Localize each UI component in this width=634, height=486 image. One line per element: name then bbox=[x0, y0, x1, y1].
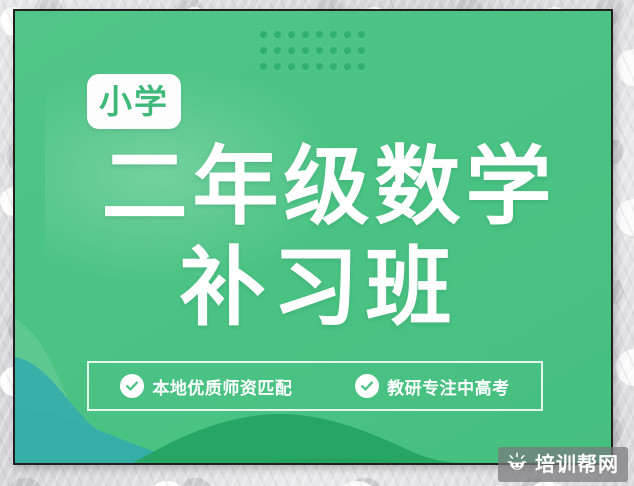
promo-poster-card: 小学 二年级数学 补习班 本地优质师资匹配 教研专注中高考 bbox=[13, 9, 613, 465]
feature-item-0: 本地优质师资匹配 bbox=[120, 374, 292, 399]
grid-dot bbox=[330, 63, 337, 70]
grid-dot bbox=[274, 47, 281, 54]
grid-dot bbox=[316, 47, 323, 54]
grid-dot bbox=[358, 63, 365, 70]
grid-dot bbox=[344, 31, 351, 38]
watermark-text: 培训帮网 bbox=[535, 455, 619, 475]
feature-item-1: 教研专注中高考 bbox=[355, 374, 510, 399]
grid-dot bbox=[260, 31, 267, 38]
grid-dot bbox=[344, 47, 351, 54]
poster-title-line1: 二年级数学 bbox=[15, 144, 613, 230]
site-watermark: 培训帮网 bbox=[498, 447, 628, 482]
poster-title-line2: 补习班 bbox=[15, 245, 613, 331]
feature-label: 教研专注中高考 bbox=[387, 374, 510, 399]
grid-dot bbox=[358, 31, 365, 38]
grid-dot bbox=[274, 63, 281, 70]
grid-dot bbox=[260, 63, 267, 70]
grid-dot bbox=[330, 47, 337, 54]
grade-level-label: 小学 bbox=[99, 85, 169, 118]
grid-dot bbox=[302, 63, 309, 70]
feature-label: 本地优质师资匹配 bbox=[152, 374, 292, 399]
grid-dot bbox=[260, 47, 267, 54]
sun-face-icon bbox=[506, 451, 528, 478]
grid-dot bbox=[302, 47, 309, 54]
feature-list: 本地优质师资匹配 教研专注中高考 bbox=[87, 361, 543, 411]
grid-dot bbox=[288, 47, 295, 54]
grade-level-badge: 小学 bbox=[87, 74, 181, 129]
check-circle-icon bbox=[120, 374, 144, 398]
grid-dot bbox=[316, 63, 323, 70]
grid-dot bbox=[288, 31, 295, 38]
grid-dot bbox=[302, 31, 309, 38]
grid-dot bbox=[358, 47, 365, 54]
grid-dot bbox=[330, 31, 337, 38]
check-circle-icon bbox=[355, 374, 379, 398]
dot-grid-decoration bbox=[260, 31, 372, 79]
grid-dot bbox=[316, 31, 323, 38]
grid-dot bbox=[344, 63, 351, 70]
grid-dot bbox=[288, 63, 295, 70]
grid-dot bbox=[274, 31, 281, 38]
